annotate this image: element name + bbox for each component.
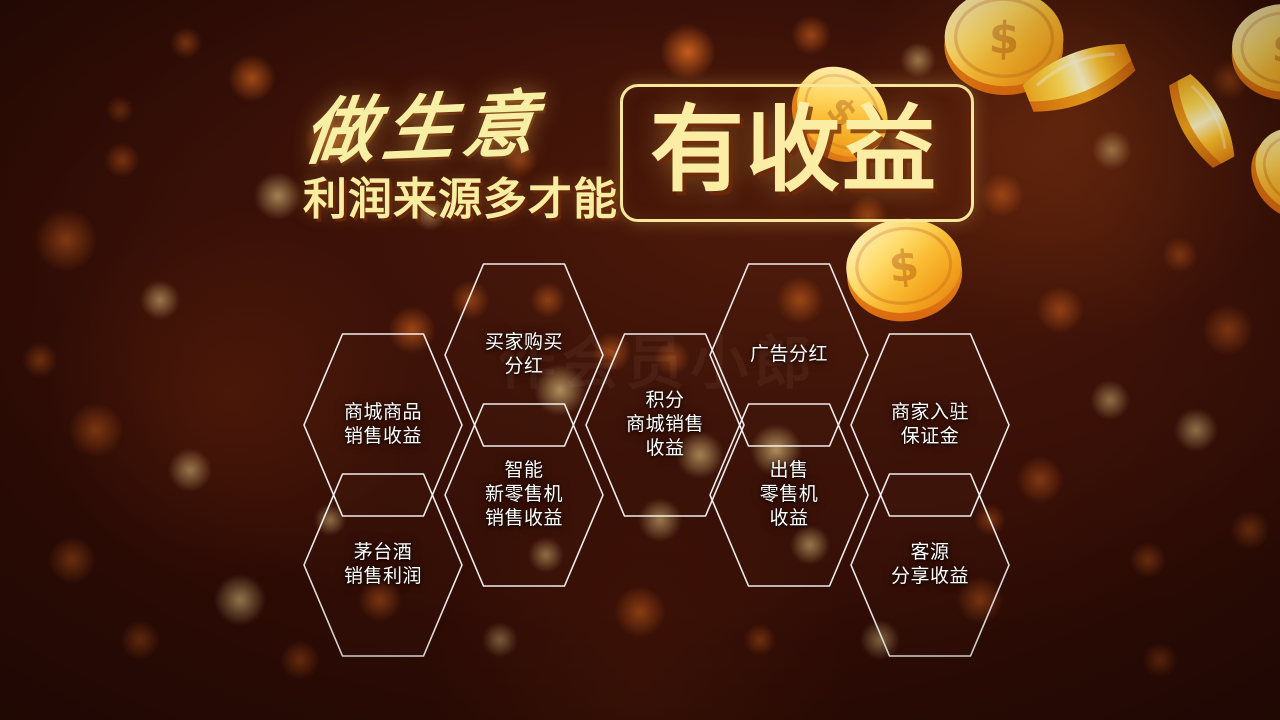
hex-cell-label: 广告分红 [742,343,836,367]
hex-cell-label: 出售 零售机 收益 [752,459,827,532]
hex-cell-label: 商城商品 销售收益 [336,401,430,450]
hex-cell-label: 客源 分享收益 [883,541,977,590]
hex-cell-label: 茅台酒 销售利润 [336,541,430,590]
hex-cell-label: 商家入驻 保证金 [883,401,977,450]
hex-cell-label: 积分 商城销售 收益 [618,389,712,462]
poster-canvas: 作会员小郎 $$$$$ 做生意 利润来源多才能 有收益 商城商品 销售收益茅台酒… [0,0,1280,720]
vignette-overlay [0,0,1280,720]
hex-cell-label: 智能 新零售机 销售收益 [477,459,571,532]
hex-cell-label: 买家购买 分红 [477,331,571,380]
